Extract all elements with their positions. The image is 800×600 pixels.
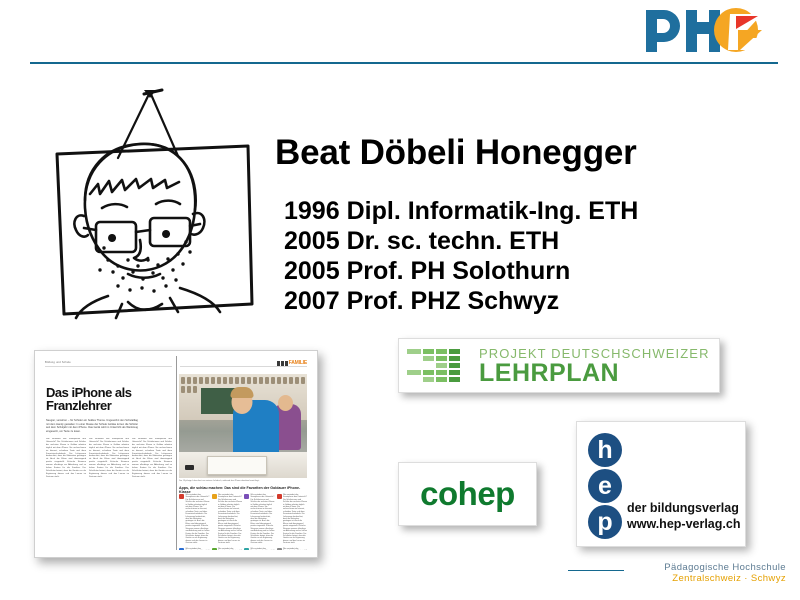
cv-text: Dr. sc. techn. ETH bbox=[347, 227, 560, 255]
shelf-item bbox=[229, 377, 233, 384]
magazine-headline-line-2: Franzlehrer bbox=[46, 399, 131, 412]
app-label: Wie verändert das Smartphone den Unterri… bbox=[218, 548, 242, 550]
shelf-item bbox=[205, 377, 209, 384]
magazine-apps-title: Apps, die schlau machen: Das sind die Fa… bbox=[179, 486, 311, 494]
magazine-lead: Neugier, verwirren – für Schüler ein hei… bbox=[46, 419, 138, 433]
list-item: 1996Dipl. Informatik-Ing. ETH bbox=[284, 196, 734, 226]
cohep-wordmark: cohep bbox=[420, 475, 515, 513]
app-icon bbox=[179, 548, 184, 550]
shelf-item bbox=[199, 377, 203, 384]
hep-circle-e: e bbox=[588, 469, 622, 503]
shelf-item bbox=[211, 377, 215, 384]
lehrplan-bar-row bbox=[407, 349, 473, 354]
magazine-masthead: FAMILIE bbox=[277, 360, 307, 366]
cv-text: Prof. PH Solothurn bbox=[347, 257, 571, 285]
apps-column: Wie verändert das Smartphone den Unterri… bbox=[277, 494, 308, 545]
lehrplan-bar-cell bbox=[407, 349, 421, 354]
lehrplan-bar-row bbox=[407, 356, 473, 361]
shelf-item bbox=[253, 377, 257, 384]
shelf-item bbox=[241, 377, 245, 384]
shelf-item bbox=[187, 386, 191, 393]
lehrplan-bar-cell bbox=[436, 370, 447, 375]
cv-text: Prof. PHZ Schwyz bbox=[347, 287, 560, 315]
magazine-top-rule bbox=[180, 366, 307, 367]
list-item: 2005Prof. PH Solothurn bbox=[284, 256, 734, 286]
lehrplan-bar-cell bbox=[423, 349, 434, 354]
app-entry: Wie verändert das Smartphone den Unterri… bbox=[179, 494, 210, 545]
shelf-item bbox=[301, 377, 305, 384]
app-icon bbox=[212, 494, 217, 499]
lehrplan-bar-cell bbox=[423, 356, 434, 361]
app-icon bbox=[212, 548, 217, 550]
shelf-item bbox=[235, 377, 239, 384]
shelf-item bbox=[277, 377, 281, 384]
magazine-column: Wie verändert das Smartphone den Unterri… bbox=[132, 438, 172, 544]
app-icon bbox=[277, 494, 282, 499]
magazine-right-page: FAMILIE bbox=[176, 356, 311, 550]
lehrplan-bar-row bbox=[407, 377, 473, 382]
magazine-runhead: Bildung und Schule bbox=[45, 361, 71, 364]
shelf-item bbox=[271, 377, 275, 384]
hep-letter-circles: h e p bbox=[588, 433, 622, 539]
photo-boy-hair bbox=[230, 387, 253, 398]
footer-divider-rule bbox=[568, 570, 624, 571]
app-icon bbox=[244, 494, 249, 499]
app-label: Wie verändert das Smartphone den Unterri… bbox=[251, 494, 275, 545]
shelf-item bbox=[223, 377, 227, 384]
masthead-block bbox=[281, 361, 284, 366]
app-icon bbox=[244, 548, 249, 550]
shelf-item bbox=[217, 377, 221, 384]
shelf-item bbox=[283, 377, 287, 384]
magazine-left-page: Bildung und Schule Das iPhone als Franzl… bbox=[41, 356, 176, 550]
magazine-apps-grid: Wie verändert das Smartphone den Unterri… bbox=[179, 494, 307, 545]
app-entry: Wie verändert das Smartphone den Unterri… bbox=[277, 548, 308, 550]
shelf-item bbox=[181, 377, 185, 384]
app-entry: Wie verändert das Smartphone den Unterri… bbox=[212, 494, 243, 545]
shelf-item bbox=[295, 377, 299, 384]
app-icon bbox=[277, 548, 282, 550]
lehrplan-bar-cell bbox=[423, 370, 434, 375]
photo-open-book bbox=[207, 456, 267, 475]
shelf-item bbox=[265, 377, 269, 384]
masthead-block bbox=[285, 361, 288, 366]
portrait-drawing bbox=[52, 82, 257, 327]
lehrplan-bar-cell bbox=[407, 370, 421, 375]
app-label: Wie verändert das Smartphone den Unterri… bbox=[218, 494, 242, 545]
app-entry: Wie verändert das Smartphone den Unterri… bbox=[212, 548, 243, 550]
shelf-item bbox=[289, 377, 293, 384]
lehrplan-bar-cell bbox=[449, 377, 460, 382]
cv-text: Dipl. Informatik-Ing. ETH bbox=[347, 197, 639, 225]
cv-year: 2005 bbox=[284, 226, 340, 256]
masthead-block bbox=[277, 361, 280, 366]
magazine-columns: Wie verändert das Smartphone den Unterri… bbox=[46, 438, 172, 544]
apps-column: Wie verändert das Smartphone den Unterri… bbox=[244, 494, 275, 545]
photo-iphone bbox=[185, 465, 194, 470]
cohep-logo: cohep bbox=[398, 462, 537, 526]
list-item: 2005Dr. sc. techn. ETH bbox=[284, 226, 734, 256]
shelf-item bbox=[193, 377, 197, 384]
lehrplan-bar-cell bbox=[407, 363, 421, 368]
magazine-classroom-photo bbox=[179, 374, 307, 478]
hep-url: www.hep-verlag.ch bbox=[627, 516, 740, 532]
lehrplan-bar-row bbox=[407, 370, 473, 375]
lehrplan-bar-cell bbox=[436, 363, 447, 368]
lehrplan-bar-cell bbox=[436, 349, 447, 354]
lehrplan-bar-cell bbox=[436, 356, 447, 361]
cv-year: 2007 bbox=[284, 286, 340, 316]
lehrplan-bar-cell bbox=[436, 377, 447, 382]
app-entry: Wie verändert das Smartphone den Unterri… bbox=[244, 548, 275, 550]
hep-circle-h: h bbox=[588, 433, 622, 467]
list-item: 2007Prof. PHZ Schwyz bbox=[284, 286, 734, 316]
app-icon bbox=[179, 494, 184, 499]
lehrplan-bar-cell bbox=[449, 349, 460, 354]
magazine-spread-image: Bildung und Schule Das iPhone als Franzl… bbox=[34, 350, 318, 558]
magazine-photo-caption: Der 13-jährige Lukas liest aus seinem Le… bbox=[179, 480, 259, 482]
masthead-title: FAMILIE bbox=[289, 360, 307, 366]
footer-line-2: Zentralschweiz · Schwyz bbox=[626, 573, 786, 584]
lehrplan-bar-cell bbox=[423, 363, 434, 368]
hep-tagline: der bildungsverlag bbox=[627, 500, 740, 516]
lehrplan-bar-cell bbox=[449, 363, 460, 368]
app-label: Wie verändert das Smartphone den Unterri… bbox=[186, 494, 210, 545]
app-entry: Wie verändert das Smartphone den Unterri… bbox=[244, 494, 275, 545]
cv-list: 1996Dipl. Informatik-Ing. ETH 2005Dr. sc… bbox=[284, 196, 734, 316]
header-divider-rule bbox=[30, 62, 778, 64]
footer-institution: Pädagogische Hochschule Zentralschweiz ·… bbox=[626, 562, 786, 584]
lehrplan-bar-cell bbox=[423, 377, 434, 382]
shelf-item bbox=[193, 386, 197, 393]
apps-column: Wie verändert das Smartphone den Unterri… bbox=[212, 494, 243, 545]
lehrplan-line-bottom: LEHRPLAN bbox=[479, 361, 710, 386]
hep-verlag-logo: h e p der bildungsverlag www.hep-verlag.… bbox=[576, 421, 746, 547]
app-label: Wie verändert das Smartphone den Unterri… bbox=[283, 494, 307, 545]
shelf-item bbox=[247, 377, 251, 384]
lehrplan-bar-cell bbox=[407, 377, 421, 382]
page-title: Beat Döbeli Honegger bbox=[275, 133, 785, 173]
lehrplan-bar-cell bbox=[449, 370, 460, 375]
presentation-slide: Beat Döbeli Honegger 1996Dipl. Informati… bbox=[0, 0, 800, 600]
app-entry: Wie verändert das Smartphone den Unterri… bbox=[277, 494, 308, 545]
shelf-item bbox=[259, 377, 263, 384]
apps-column: Wie verändert das Smartphone den Unterri… bbox=[179, 494, 210, 545]
shelf-item bbox=[181, 386, 185, 393]
app-label: Wie verändert das Smartphone den Unterri… bbox=[186, 548, 210, 550]
magazine-column: Wie verändert das Smartphone den Unterri… bbox=[89, 438, 129, 544]
footer-line-1: Pädagogische Hochschule bbox=[626, 562, 786, 573]
hep-text-block: der bildungsverlag www.hep-verlag.ch bbox=[627, 500, 740, 532]
magazine-column: Wie verändert das Smartphone den Unterri… bbox=[46, 438, 86, 544]
magazine-top-rule bbox=[45, 366, 172, 367]
lehrplan-bar-cell bbox=[449, 356, 460, 361]
cv-year: 1996 bbox=[284, 196, 340, 226]
phz-logo bbox=[640, 4, 785, 54]
photo-girl-head bbox=[278, 395, 293, 411]
app-entry: Wie verändert das Smartphone den Unterri… bbox=[179, 548, 210, 550]
lehrplan-wordmark: PROJEKT DEUTSCHSCHWEIZER LEHRPLAN bbox=[479, 346, 710, 386]
lehrplan-logo: PROJEKT DEUTSCHSCHWEIZER LEHRPLAN bbox=[398, 338, 720, 393]
shelf-item bbox=[187, 377, 191, 384]
lehrplan-bar-row bbox=[407, 363, 473, 368]
lehrplan-bar-cell bbox=[407, 356, 421, 361]
cv-year: 2005 bbox=[284, 256, 340, 286]
magazine-gutter bbox=[176, 356, 177, 550]
lehrplan-bar-graphic bbox=[407, 346, 473, 386]
magazine-headline: Das iPhone als Franzlehrer bbox=[46, 386, 131, 412]
app-label: Wie verändert das Smartphone den Unterri… bbox=[283, 548, 307, 550]
hep-circle-p: p bbox=[588, 505, 622, 539]
app-label: Wie verändert das Smartphone den Unterri… bbox=[251, 548, 275, 550]
